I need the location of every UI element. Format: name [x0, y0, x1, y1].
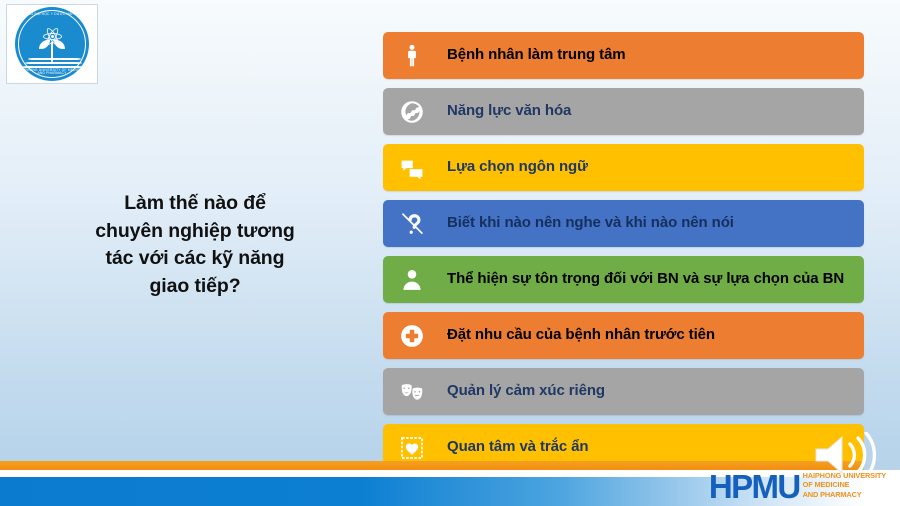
headline-line-1: Làm thế nào để	[30, 190, 360, 218]
globe-icon	[399, 99, 425, 125]
university-seal: TRƯỜNG ĐẠI HỌC Y DƯỢC HẢI PHÒNG HAIPHONG…	[6, 4, 98, 84]
theater-masks-icon	[399, 379, 425, 405]
skill-bar-label: Bệnh nhân làm trung tâm	[447, 46, 626, 65]
seal-disc: TRƯỜNG ĐẠI HỌC Y DƯỢC HẢI PHÒNG HAIPHONG…	[15, 7, 89, 81]
skill-bar-label: Thể hiện sự tôn trọng đối với BN và sự l…	[447, 270, 844, 289]
hpmu-brand-text: HPMU	[709, 473, 800, 500]
skill-bar-4[interactable]: Biết khi nào nên nghe và khi nào nên nói	[383, 200, 864, 247]
person-bust-icon	[399, 267, 425, 293]
skill-bar-label: Năng lực văn hóa	[447, 102, 571, 121]
headline-line-3: tác với các kỹ năng	[30, 245, 360, 273]
hpmu-subtitle-line-3: AND PHARMACY	[803, 490, 886, 499]
person-standing-icon	[399, 43, 425, 69]
seal-text-vietnamese: TRƯỜNG ĐẠI HỌC Y DƯỢC HẢI PHÒNG	[15, 13, 89, 16]
hpmu-subtitle-line-2: OF MEDICINE	[803, 480, 886, 489]
skill-bar-label: Quan tâm và trắc ẩn	[447, 438, 589, 457]
hpmu-subtitle-line-1: HAIPHONG UNIVERSITY	[803, 471, 886, 480]
skill-bar-1[interactable]: Bệnh nhân làm trung tâm	[383, 32, 864, 79]
skill-bar-7[interactable]: Quản lý cảm xúc riêng	[383, 368, 864, 415]
skill-bar-label: Biết khi nào nên nghe và khi nào nên nói	[447, 214, 734, 233]
speech-bubbles-icon	[399, 155, 425, 181]
skill-bar-label: Lựa chọn ngôn ngữ	[447, 158, 588, 177]
skill-bar-2[interactable]: Năng lực văn hóa	[383, 88, 864, 135]
hpmu-footer-logo: HPMU HAIPHONG UNIVERSITY OF MEDICINE AND…	[709, 471, 886, 500]
headline-line-2: chuyên nghiệp tương	[30, 218, 360, 246]
seal-text-english: HAIPHONG UNIVERSITY OF MEDICINE AND PHAR…	[15, 69, 89, 76]
hpmu-subtitle: HAIPHONG UNIVERSITY OF MEDICINE AND PHAR…	[803, 471, 886, 499]
skill-bar-5[interactable]: Thể hiện sự tôn trọng đối với BN và sự l…	[383, 256, 864, 303]
skill-bar-6[interactable]: Đặt nhu cầu của bệnh nhân trước tiên	[383, 312, 864, 359]
ear-hearing-icon	[399, 211, 425, 237]
skills-bar-list: Bệnh nhân làm trung tâmNăng lực văn hóaL…	[383, 32, 864, 480]
medical-cross-icon	[399, 323, 425, 349]
heart-frame-icon	[399, 435, 425, 461]
skill-bar-label: Quản lý cảm xúc riêng	[447, 382, 605, 401]
skill-bar-3[interactable]: Lựa chọn ngôn ngữ	[383, 144, 864, 191]
page-title: Làm thế nào để chuyên nghiệp tương tác v…	[30, 190, 360, 301]
skill-bar-label: Đặt nhu cầu của bệnh nhân trước tiên	[447, 326, 715, 345]
headline-line-4: giao tiếp?	[30, 273, 360, 301]
